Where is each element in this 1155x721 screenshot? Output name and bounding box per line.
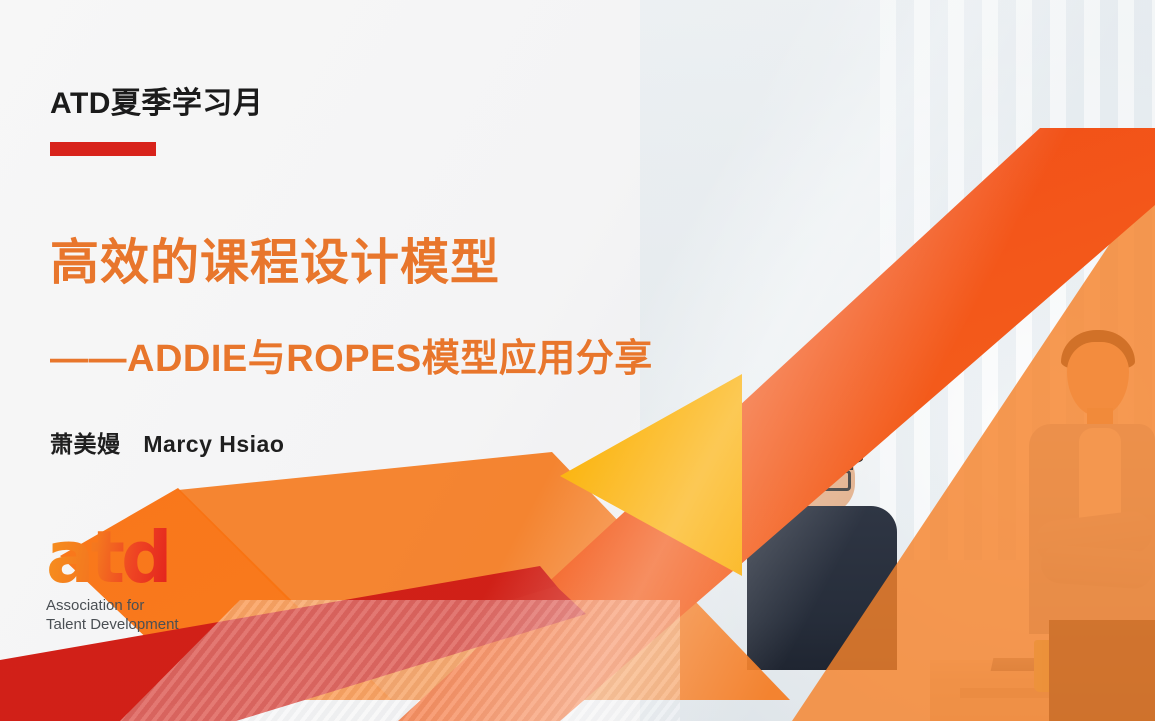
atd-tagline-line1: Association for [46,597,179,616]
atd-wordmark: atd [46,528,179,587]
slide-title: 高效的课程设计模型 [50,223,500,294]
slide-subtitle: ——ADDIE与ROPES模型应用分享 [50,327,653,382]
atd-logo: atd Association for Talent Development [46,528,179,635]
speaker-name-cn: 萧美嫚 [50,431,121,457]
speaker-name: 萧美嫚 Marcy Hsiao [50,425,284,459]
atd-tagline-line2: Talent Development [46,616,179,635]
slide-text-layer: ATD夏季学习月 高效的课程设计模型 ——ADDIE与ROPES模型应用分享 萧… [0,0,1155,721]
presentation-slide: ATD夏季学习月 高效的课程设计模型 ——ADDIE与ROPES模型应用分享 萧… [0,0,1155,721]
speaker-name-en: Marcy Hsiao [143,431,284,457]
slide-kicker: ATD夏季学习月 [50,78,263,122]
atd-logo-tagline: Association for Talent Development [46,597,179,635]
kicker-red-rule [50,142,156,156]
